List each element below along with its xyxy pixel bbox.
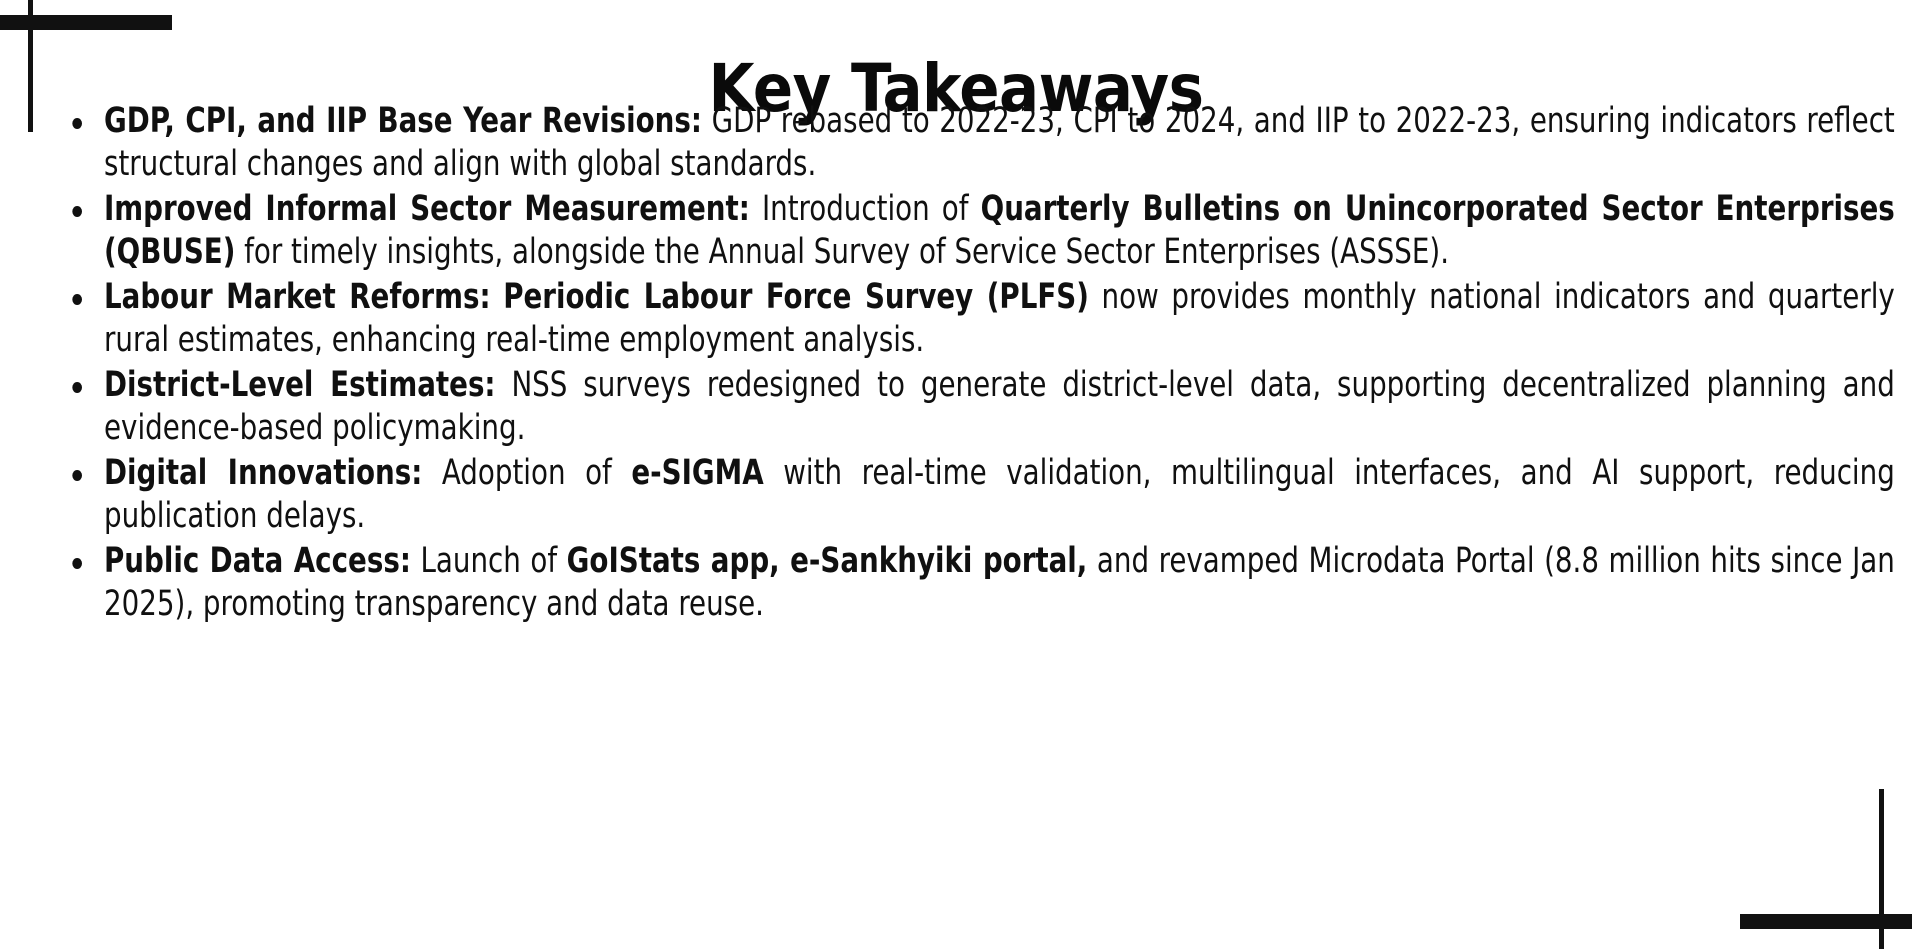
list-item-lead: GDP, CPI, and IIP Base Year Revisions: bbox=[104, 101, 702, 141]
list-item: GDP, CPI, and IIP Base Year Revisions: G… bbox=[60, 100, 1895, 186]
list-item-lead: Improved Informal Sector Measurement: bbox=[104, 189, 750, 229]
bullet-dot-icon bbox=[72, 558, 82, 569]
list-item-emphasis: e-SIGMA bbox=[631, 453, 763, 493]
list-item-lead: Digital Innovations: bbox=[104, 453, 422, 493]
list-item-emphasis: GoIStats app, e-Sankhyiki portal, bbox=[567, 541, 1088, 581]
list-item-text: Improved Informal Sector Measurement: In… bbox=[104, 188, 1895, 274]
slide-canvas: Key Takeaways GDP, CPI, and IIP Base Yea… bbox=[0, 0, 1912, 949]
bullet-dot-icon bbox=[72, 294, 82, 305]
bullet-dot-icon bbox=[72, 118, 82, 129]
list-item-text: District-Level Estimates: NSS surveys re… bbox=[104, 364, 1895, 450]
list-item-body-1 bbox=[491, 277, 504, 317]
corner-cross-mark-bottom-right bbox=[1732, 779, 1912, 949]
list-item: Improved Informal Sector Measurement: In… bbox=[60, 188, 1895, 274]
list-item-body-1: Adoption of bbox=[422, 453, 631, 493]
bullet-dot-icon bbox=[72, 382, 82, 393]
list-item-text: Public Data Access: Launch of GoIStats a… bbox=[104, 540, 1895, 626]
list-item-text: GDP, CPI, and IIP Base Year Revisions: G… bbox=[104, 100, 1895, 186]
list-item: Digital Innovations: Adoption of e-SIGMA… bbox=[60, 452, 1895, 538]
list-item-lead: Public Data Access: bbox=[104, 541, 411, 581]
list-item-lead: District-Level Estimates: bbox=[104, 365, 496, 405]
bullet-dot-icon bbox=[72, 206, 82, 217]
list-item: Labour Market Reforms: Periodic Labour F… bbox=[60, 276, 1895, 362]
bullet-dot-icon bbox=[72, 470, 82, 481]
list-item-body-2: for timely insights, alongside the Annua… bbox=[235, 232, 1449, 272]
list-item-lead: Labour Market Reforms: bbox=[104, 277, 491, 317]
list-item-text: Digital Innovations: Adoption of e-SIGMA… bbox=[104, 452, 1895, 538]
list-item: District-Level Estimates: NSS surveys re… bbox=[60, 364, 1895, 450]
list-item: Public Data Access: Launch of GoIStats a… bbox=[60, 540, 1895, 626]
list-item-text: Labour Market Reforms: Periodic Labour F… bbox=[104, 276, 1895, 362]
cross-horizontal-bar-icon bbox=[0, 15, 172, 30]
list-item-emphasis: Periodic Labour Force Survey (PLFS) bbox=[503, 277, 1089, 317]
key-takeaways-list: GDP, CPI, and IIP Base Year Revisions: G… bbox=[60, 100, 1852, 628]
list-item-body-1: Introduction of bbox=[750, 189, 981, 229]
list-item-body-1: Launch of bbox=[411, 541, 567, 581]
cross-horizontal-bar-icon bbox=[1740, 914, 1912, 929]
